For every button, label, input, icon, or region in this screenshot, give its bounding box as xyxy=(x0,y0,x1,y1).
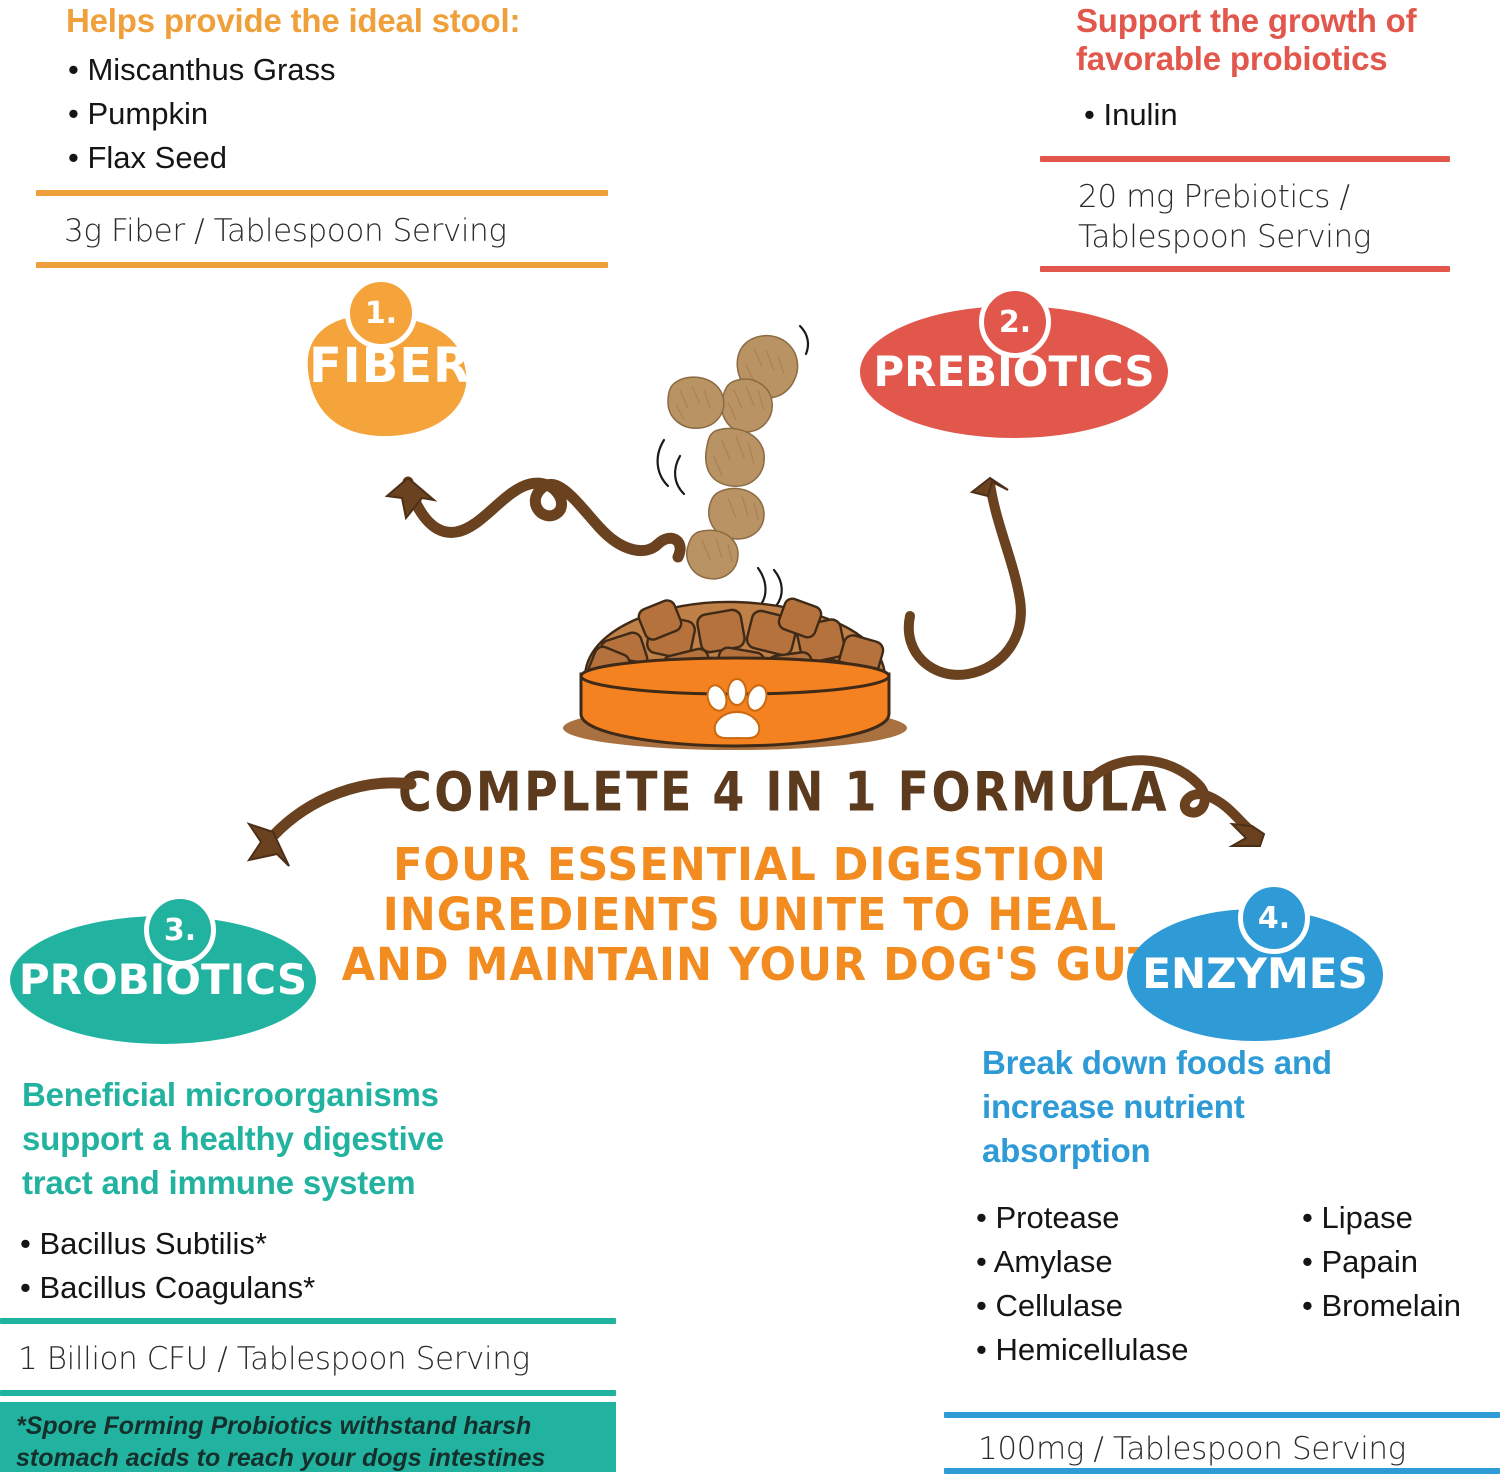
fiber-serving: 3g Fiber / Tablespoon Serving xyxy=(64,212,507,250)
list-item: • Flax Seed xyxy=(68,136,336,180)
enzymes-rule-top xyxy=(944,1412,1500,1418)
enzymes-bubble-group[interactable]: 4. ENZYMES xyxy=(1125,890,1385,1045)
list-item: • Bacillus Coagulans* xyxy=(20,1266,315,1310)
probiotics-heading-line3: tract and immune system xyxy=(22,1164,415,1202)
list-item: • Inulin xyxy=(1084,93,1178,137)
arrow-to-probiotics-icon xyxy=(215,762,425,892)
fiber-heading: Helps provide the ideal stool: xyxy=(66,2,520,40)
enzymes-bullet-list-right: • Lipase • Papain • Bromelain xyxy=(1302,1196,1461,1328)
fiber-rule-top xyxy=(36,190,608,196)
probiotics-footnote-line1: *Spore Forming Probiotics withstand hars… xyxy=(16,1410,602,1442)
list-item: • Papain xyxy=(1302,1240,1461,1284)
enzymes-bubble-label: ENZYMES xyxy=(1125,944,1385,1002)
fiber-bubble-group[interactable]: 1. FIBER xyxy=(290,285,490,445)
infographic-canvas: Helps provide the ideal stool: • Miscant… xyxy=(0,0,1500,1472)
list-item: • Bacillus Subtilis* xyxy=(20,1222,315,1266)
list-item: • Pumpkin xyxy=(68,92,336,136)
list-item: • Amylase xyxy=(976,1240,1188,1284)
fiber-rule-bottom xyxy=(36,262,608,268)
dog-food-bowl xyxy=(545,588,925,753)
list-item: • Hemicellulase xyxy=(976,1328,1188,1372)
enzymes-badge: 4. xyxy=(1238,882,1310,954)
enzymes-heading-line2: increase nutrient xyxy=(982,1088,1245,1126)
fiber-bullet-list: • Miscanthus Grass • Pumpkin • Flax Seed xyxy=(68,48,336,180)
list-item: • Cellulase xyxy=(976,1284,1188,1328)
probiotics-footnote: *Spore Forming Probiotics withstand hars… xyxy=(0,1402,616,1472)
fiber-badge: 1. xyxy=(345,277,417,349)
prebiotics-serving-line2: Tablespoon Serving xyxy=(1078,218,1371,256)
probiotics-heading-line1: Beneficial microorganisms xyxy=(22,1076,439,1114)
probiotics-footnote-line2: stomach acids to reach your dogs intesti… xyxy=(16,1442,602,1474)
probiotics-serving: 1 Billion CFU / Tablespoon Serving xyxy=(18,1340,530,1378)
prebiotics-rule-bottom xyxy=(1040,266,1450,272)
probiotics-heading-line2: support a healthy digestive xyxy=(22,1120,444,1158)
enzymes-heading-line1: Break down foods and xyxy=(982,1044,1332,1082)
probiotics-rule-top xyxy=(0,1318,616,1324)
prebiotics-bubble-group[interactable]: 2. PREBIOTICS xyxy=(858,290,1170,440)
probiotics-rule-bottom xyxy=(0,1390,616,1396)
enzymes-serving: 100mg / Tablespoon Serving xyxy=(978,1430,1406,1468)
prebiotics-serving-line1: 20 mg Prebiotics / xyxy=(1078,178,1350,216)
prebiotics-rule-top xyxy=(1040,156,1450,162)
list-item: • Lipase xyxy=(1302,1196,1461,1240)
list-item: • Protease xyxy=(976,1196,1188,1240)
formula-title: COMPLETE 4 IN 1 FORMULA xyxy=(398,760,1169,824)
prebiotics-heading-line2: favorable probiotics xyxy=(1076,40,1387,78)
prebiotics-badge: 2. xyxy=(979,286,1051,358)
list-item: • Miscanthus Grass xyxy=(68,48,336,92)
list-item: • Bromelain xyxy=(1302,1284,1461,1328)
prebiotics-heading-line1: Support the growth of xyxy=(1076,2,1416,40)
arrow-to-enzymes-icon xyxy=(1072,742,1287,887)
probiotics-bullet-list: • Bacillus Subtilis* • Bacillus Coagulan… xyxy=(20,1222,315,1310)
enzymes-rule-bottom xyxy=(944,1468,1500,1474)
enzymes-heading-line3: absorption xyxy=(982,1132,1151,1170)
prebiotics-bullet-list: • Inulin xyxy=(1084,93,1178,137)
enzymes-bullet-list-left: • Protease • Amylase • Cellulase • Hemic… xyxy=(976,1196,1188,1372)
probiotics-bubble-group[interactable]: 3. PROBIOTICS xyxy=(8,900,318,1045)
arrow-to-fiber-icon xyxy=(370,440,710,600)
probiotics-badge: 3. xyxy=(144,894,216,966)
